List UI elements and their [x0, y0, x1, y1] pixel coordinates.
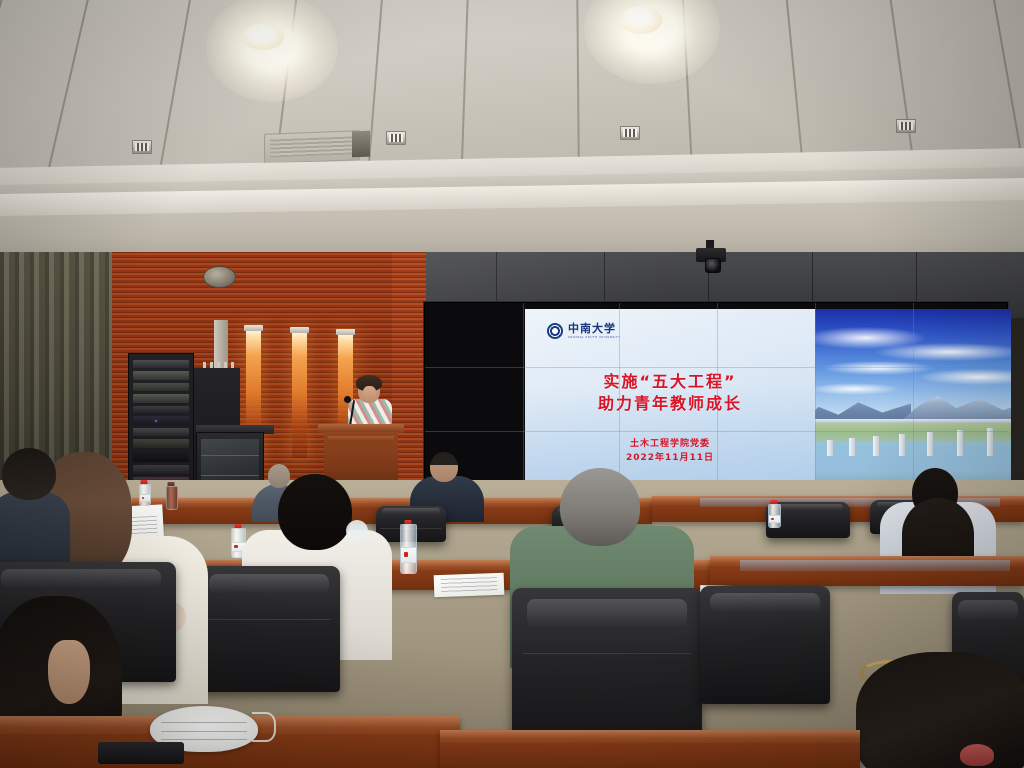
water-bottle-far-left[interactable] [139, 480, 149, 504]
red-object-on-desk [960, 744, 994, 766]
slide-subtitle: 土木工程学院党委 2022年11月11日 [525, 437, 815, 465]
videowall-bezel-v1 [523, 303, 524, 499]
university-emblem-icon [547, 323, 563, 339]
slide-title: 实施“五大工程” 助力青年教师成长 [525, 371, 815, 415]
slide-subtitle-line2: 2022年11月11日 [525, 451, 815, 465]
ceiling-spotlight-2 [386, 131, 406, 145]
videowall-bezel-v5 [913, 303, 914, 499]
ceiling-ac-vent-icon [264, 130, 360, 164]
presentation-slide: 中南大学 CENTRAL SOUTH UNIVERSITY 实施“五大工程” 助… [525, 309, 815, 493]
downlight-glow-left [206, 0, 338, 102]
ceiling-spotlight-1 [132, 140, 152, 154]
ear-and-cheek [48, 640, 90, 704]
lectern-bevel [328, 436, 394, 442]
videowall-bezel-v4 [815, 303, 816, 499]
ceiling-spotlight-3 [620, 126, 640, 140]
water-bottle-centre[interactable] [400, 520, 415, 572]
university-name-cn: 中南大学 [568, 323, 621, 334]
slide-subtitle-line1: 土木工程学院党委 [525, 437, 815, 451]
water-bottle-back[interactable] [768, 500, 779, 526]
videowall-bezel-v2 [619, 303, 620, 499]
ceiling-downlight-left [242, 24, 284, 50]
window-curtain [0, 252, 112, 482]
slide-title-line2: 助力青年教师成长 [525, 393, 815, 415]
chair-centre-left[interactable] [198, 566, 340, 692]
ceiling-spotlight-4 [896, 119, 916, 133]
microphone-icon [344, 396, 351, 403]
camera-lens-icon [705, 258, 721, 273]
ceiling-duct [352, 131, 370, 158]
wall-wash-light-2 [292, 332, 307, 458]
phone-on-desk[interactable] [98, 742, 184, 764]
desk-reflection-middle [740, 560, 1010, 571]
chair-right-middle[interactable] [700, 586, 830, 704]
desk-row-front-right [440, 730, 860, 768]
videowall-bezel-h1 [425, 367, 1007, 368]
presenter-face [363, 386, 376, 400]
university-name-en: CENTRAL SOUTH UNIVERSITY [568, 336, 621, 339]
videowall-bezel-h2 [425, 431, 1007, 432]
face-mask-worn [346, 520, 368, 542]
ceiling-downlight-right [620, 6, 662, 34]
face-mask-ear-loop [252, 712, 276, 742]
document-page-centre[interactable] [434, 573, 505, 597]
university-logo: 中南大学 CENTRAL SOUTH UNIVERSITY [547, 323, 621, 339]
led-video-wall[interactable]: 中南大学 CENTRAL SOUTH UNIVERSITY 实施“五大工程” 助… [424, 302, 1008, 500]
slide-title-line1: 实施“五大工程” [525, 371, 815, 393]
water-bottle-far-left-2[interactable] [166, 482, 176, 508]
wall-speaker-icon [203, 266, 236, 288]
meeting-room-photo: 中南大学 CENTRAL SOUTH UNIVERSITY 实施“五大工程” 助… [0, 0, 1024, 768]
videowall-bezel-v3 [717, 303, 718, 499]
